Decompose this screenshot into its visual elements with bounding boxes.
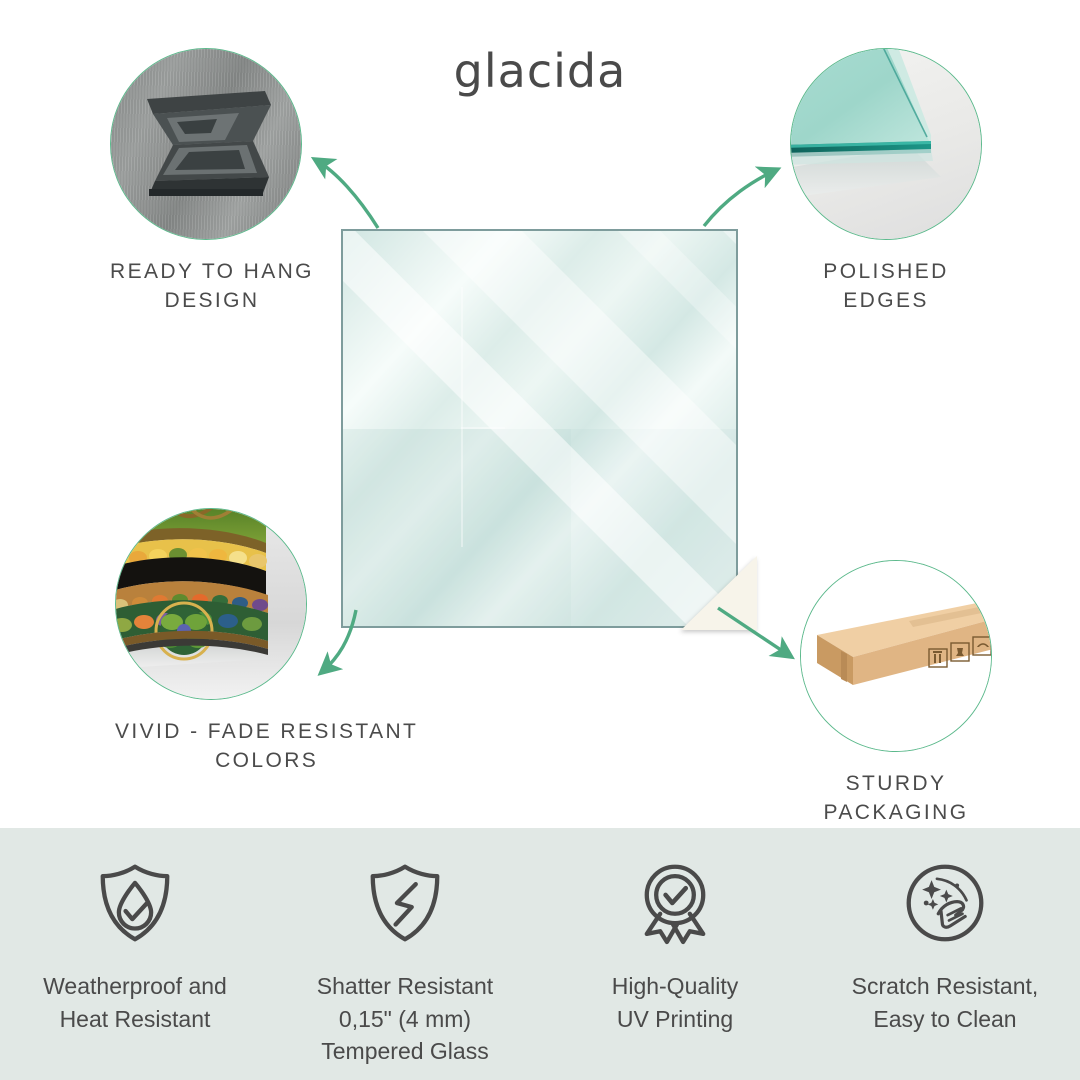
feature-shatter-resistant: Shatter Resistant 0,15" (4 mm) Tempered … xyxy=(270,828,540,1080)
badge-vivid-colors-caption: VIVID - FADE RESISTANT COLORS xyxy=(115,718,418,776)
glass-peeled-corner xyxy=(681,556,757,630)
tempered-glass-panel xyxy=(341,229,738,628)
badge-ready-to-hang-caption: READY TO HANG DESIGN xyxy=(110,258,314,316)
feature-shatter-resistant-label: Shatter Resistant 0,15" (4 mm) Tempered … xyxy=(317,970,493,1068)
award-ribbon-check-icon xyxy=(632,860,718,946)
badge-polished-edges-caption: POLISHED EDGES xyxy=(790,258,982,316)
arrow-to-ready-to-hang xyxy=(316,160,378,228)
feature-uv-printing: High-Quality UV Printing xyxy=(540,828,810,1080)
badge-polished-edges-image xyxy=(790,48,982,240)
glass-reflection-line xyxy=(461,287,463,547)
badge-ready-to-hang: READY TO HANG DESIGN xyxy=(110,48,314,316)
feature-uv-printing-label: High-Quality UV Printing xyxy=(612,970,739,1035)
shield-lightning-bolt-icon xyxy=(362,860,448,946)
glass-reflection-line xyxy=(461,427,505,429)
badge-sturdy-packaging-image xyxy=(800,560,992,752)
shield-water-drop-check-icon xyxy=(92,860,178,946)
arrow-to-polished-edges xyxy=(704,170,776,226)
glass-edge-photo-icon xyxy=(791,49,981,239)
stained-glass-artwork-icon xyxy=(116,509,306,699)
cardboard-box-icon xyxy=(801,561,991,751)
feature-scratch-resistant: Scratch Resistant, Easy to Clean xyxy=(810,828,1080,1080)
badge-sturdy-packaging: STURDY PACKAGING xyxy=(800,560,992,828)
badge-vivid-colors-image xyxy=(115,508,307,700)
standoff-bracket-icon xyxy=(133,85,279,203)
badge-ready-to-hang-image xyxy=(110,48,302,240)
feature-weatherproof-label: Weatherproof and Heat Resistant xyxy=(43,970,227,1035)
badge-polished-edges: POLISHED EDGES xyxy=(790,48,982,316)
infographic-canvas: glacida READY TO HANG DESIGN xyxy=(0,0,1080,1080)
feature-bar: Weatherproof and Heat Resistant Shatter … xyxy=(0,828,1080,1080)
sparkle-wiping-hand-icon xyxy=(902,860,988,946)
feature-scratch-resistant-label: Scratch Resistant, Easy to Clean xyxy=(852,970,1039,1035)
badge-sturdy-packaging-caption: STURDY PACKAGING xyxy=(800,770,992,828)
feature-weatherproof: Weatherproof and Heat Resistant xyxy=(0,828,270,1080)
